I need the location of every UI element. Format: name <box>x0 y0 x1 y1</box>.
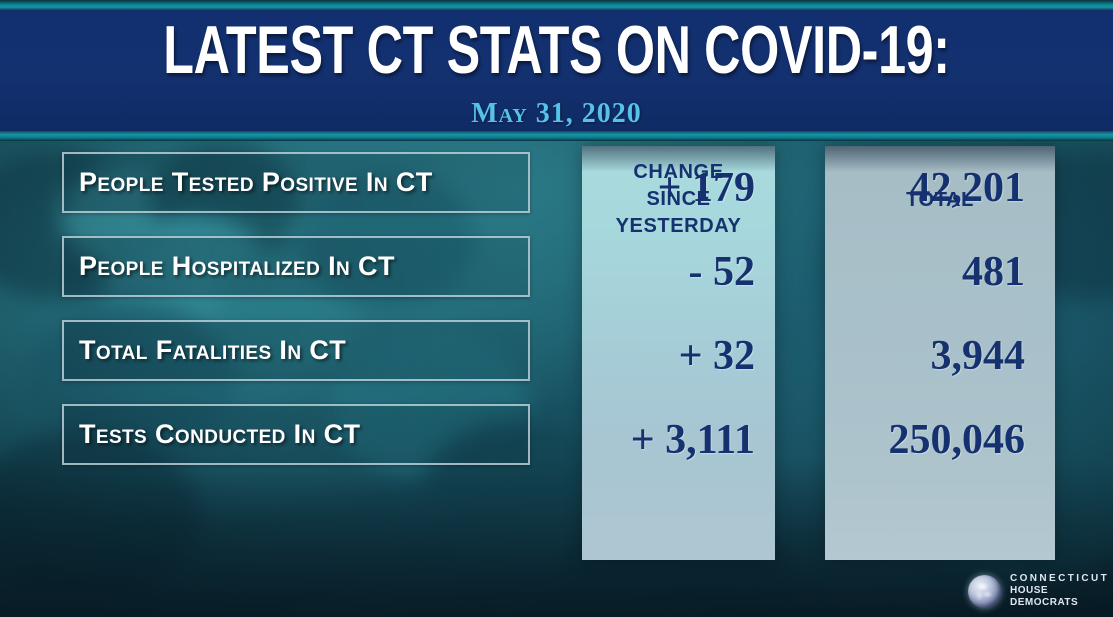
covid-stats-infographic: LATEST CT STATS ON COVID-19: May 31, 202… <box>0 0 1113 617</box>
header-banner: LATEST CT STATS ON COVID-19: May 31, 202… <box>0 0 1113 141</box>
report-date: May 31, 2020 <box>0 98 1113 130</box>
row-label-box-tests-conducted: Tests Conducted In CT <box>62 404 530 465</box>
logo-line-house-democrats: HOUSE DEMOCRATS <box>1010 585 1109 609</box>
row-change-value: + 3,111 <box>582 398 775 482</box>
table-row: Total Fatalities In CT + 32 3,944 <box>0 314 1113 398</box>
row-label-box-people-hospitalized: People Hospitalized In CT <box>62 236 530 297</box>
page-title: LATEST CT STATS ON COVID-19: <box>145 16 969 84</box>
row-label-text: People Hospitalized In CT <box>79 251 395 282</box>
row-change-value: - 52 <box>582 230 775 314</box>
row-label-text: Tests Conducted In CT <box>79 419 360 450</box>
bottom-teal-rule <box>0 131 1113 141</box>
row-total-value: 481 <box>825 230 1055 314</box>
table-row: People Hospitalized In CT - 52 481 <box>0 230 1113 314</box>
logo-wordmark: CONNECTICUT HOUSE DEMOCRATS <box>1010 573 1109 608</box>
table-row: Tests Conducted In CT + 3,111 250,046 <box>0 398 1113 482</box>
row-label-box-people-tested-positive: People Tested Positive In CT <box>62 152 530 213</box>
globe-seal-icon <box>968 575 1001 608</box>
column-header-line-1: CHANGE <box>582 159 775 186</box>
row-change-value: + 32 <box>582 314 775 398</box>
row-label-text: People Tested Positive In CT <box>79 167 433 198</box>
column-header-total: TOTAL <box>825 187 1055 214</box>
row-total-value: 250,046 <box>825 398 1055 482</box>
connecticut-house-democrats-logo: CONNECTICUT HOUSE DEMOCRATS <box>968 570 1108 612</box>
column-header-line-2: SINCE <box>582 186 775 213</box>
logo-line-connecticut: CONNECTICUT <box>1010 573 1109 585</box>
column-header-change-since-yesterday: CHANGE SINCE YESTERDAY <box>582 159 775 240</box>
row-label-box-total-fatalities: Total Fatalities In CT <box>62 320 530 381</box>
column-header-line-3: YESTERDAY <box>582 213 775 240</box>
top-teal-rule <box>0 0 1113 10</box>
row-total-value: 3,944 <box>825 314 1055 398</box>
row-label-text: Total Fatalities In CT <box>79 335 346 366</box>
